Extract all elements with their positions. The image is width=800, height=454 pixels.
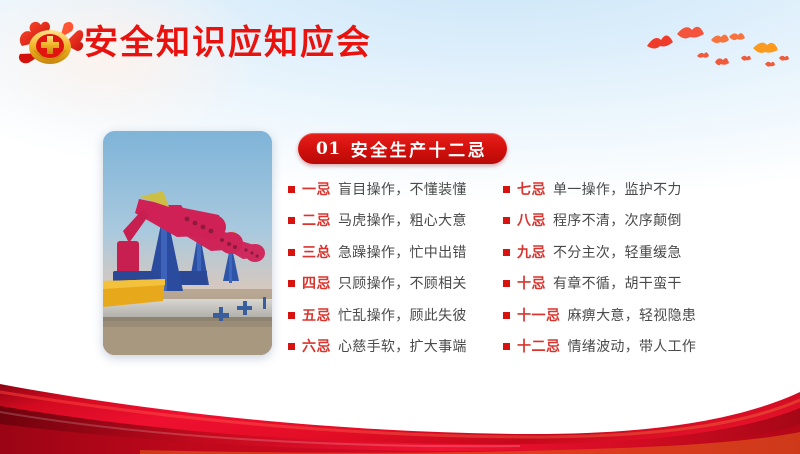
square-bullet-icon bbox=[288, 343, 295, 350]
item-text: 麻痹大意，轻视隐患 bbox=[568, 305, 697, 325]
item-text: 情绪波动，带人工作 bbox=[568, 336, 697, 356]
list-item: 十一忌 麻痹大意，轻视隐患 bbox=[503, 299, 753, 331]
taboo-column-right: 七忌 单一操作，监护不力 八忌 程序不清，次序颠倒 九忌 不分主次，轻重缓急 十… bbox=[503, 173, 753, 362]
item-text: 盲目操作，不懂装懂 bbox=[338, 179, 467, 199]
item-number: 十忌 bbox=[517, 273, 546, 293]
section-banner: 01 安全生产十二忌 bbox=[298, 133, 507, 164]
item-text: 心慈手软，扩大事端 bbox=[338, 336, 467, 356]
red-wave-ribbon-decoration bbox=[0, 362, 800, 454]
item-text: 只顾操作，不顾相关 bbox=[338, 273, 467, 293]
item-number: 九忌 bbox=[517, 242, 546, 262]
taboo-column-left: 一忌 盲目操作，不懂装懂 二忌 马虎操作，粗心大意 三总 急躁操作，忙中出错 四… bbox=[288, 173, 503, 362]
item-text: 有章不循，胡干蛮干 bbox=[553, 273, 682, 293]
item-number: 二忌 bbox=[302, 210, 331, 230]
item-number: 六忌 bbox=[302, 336, 331, 356]
list-item: 六忌 心慈手软，扩大事端 bbox=[288, 331, 503, 363]
list-item: 八忌 程序不清，次序颠倒 bbox=[503, 205, 753, 237]
list-item: 九忌 不分主次，轻重缓急 bbox=[503, 236, 753, 268]
item-number: 十一忌 bbox=[517, 305, 561, 325]
item-number: 一忌 bbox=[302, 179, 331, 199]
list-item: 一忌 盲目操作，不懂装懂 bbox=[288, 173, 503, 205]
slide-header: 安全知识应知应会 bbox=[0, 0, 800, 90]
flying-birds-flock-icon bbox=[645, 18, 795, 80]
item-text: 单一操作，监护不力 bbox=[553, 179, 682, 199]
item-text: 急躁操作，忙中出错 bbox=[338, 242, 467, 262]
item-text: 程序不清，次序颠倒 bbox=[553, 210, 682, 230]
item-number: 七忌 bbox=[517, 179, 546, 199]
item-text: 不分主次，轻重缓急 bbox=[553, 242, 682, 262]
square-bullet-icon bbox=[503, 343, 510, 350]
square-bullet-icon bbox=[503, 280, 510, 287]
list-item: 十忌 有章不循，胡干蛮干 bbox=[503, 268, 753, 300]
item-number: 三总 bbox=[302, 242, 331, 262]
square-bullet-icon bbox=[503, 249, 510, 256]
list-item: 七忌 单一操作，监护不力 bbox=[503, 173, 753, 205]
square-bullet-icon bbox=[503, 186, 510, 193]
square-bullet-icon bbox=[288, 186, 295, 193]
list-item: 四忌 只顾操作，不顾相关 bbox=[288, 268, 503, 300]
taboo-lists: 一忌 盲目操作，不懂装懂 二忌 马虎操作，粗心大意 三总 急躁操作，忙中出错 四… bbox=[288, 173, 758, 362]
square-bullet-icon bbox=[503, 217, 510, 224]
item-number: 八忌 bbox=[517, 210, 546, 230]
list-item: 十二忌 情绪波动，带人工作 bbox=[503, 331, 753, 363]
list-item: 二忌 马虎操作，粗心大意 bbox=[288, 205, 503, 237]
list-item: 三总 急躁操作，忙中出错 bbox=[288, 236, 503, 268]
item-number: 十二忌 bbox=[517, 336, 561, 356]
list-item: 五忌 忙乱操作，顾此失彼 bbox=[288, 299, 503, 331]
section-heading: 安全生产十二忌 bbox=[351, 136, 488, 161]
safety-cross-ribbon-emblem-icon bbox=[14, 16, 88, 70]
square-bullet-icon bbox=[288, 280, 295, 287]
section-number: 01 bbox=[316, 139, 341, 159]
item-number: 五忌 bbox=[302, 305, 331, 325]
square-bullet-icon bbox=[288, 312, 295, 319]
square-bullet-icon bbox=[288, 249, 295, 256]
slide-canvas: 安全知识应知应会 bbox=[0, 0, 800, 454]
oil-pumpjack-field-photo bbox=[103, 131, 272, 355]
item-text: 忙乱操作，顾此失彼 bbox=[338, 305, 467, 325]
page-title: 安全知识应知应会 bbox=[84, 18, 372, 68]
item-number: 四忌 bbox=[302, 273, 331, 293]
square-bullet-icon bbox=[503, 312, 510, 319]
content-panel: 01 安全生产十二忌 一忌 盲目操作，不懂装懂 二忌 马虎操作，粗心大意 三总 bbox=[288, 128, 758, 363]
square-bullet-icon bbox=[288, 217, 295, 224]
item-text: 马虎操作，粗心大意 bbox=[338, 210, 467, 230]
